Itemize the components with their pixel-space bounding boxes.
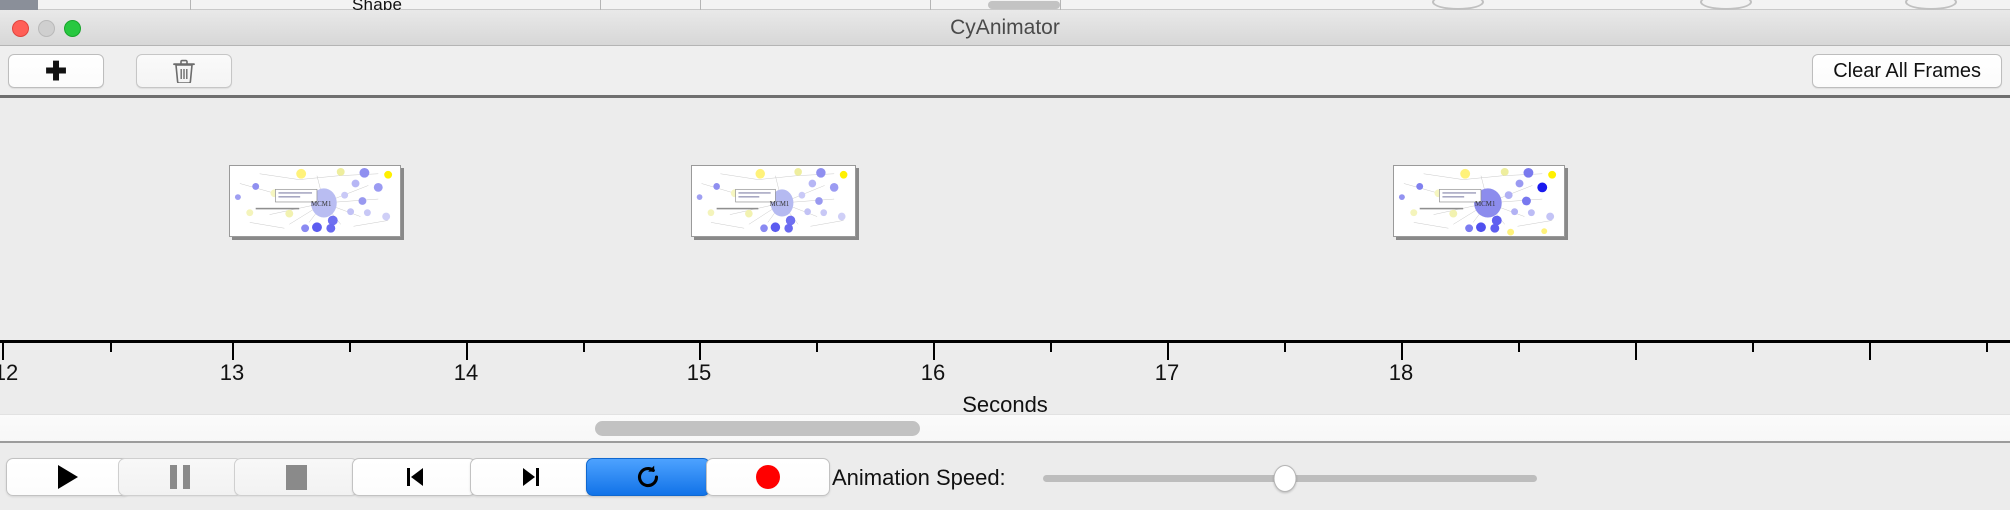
ruler-label: 16 bbox=[921, 360, 945, 386]
ruler-tick-major bbox=[2, 343, 4, 360]
play-button[interactable] bbox=[6, 458, 130, 496]
svg-text:MCM1: MCM1 bbox=[1475, 201, 1496, 208]
loop-icon bbox=[634, 463, 662, 491]
skip-to-end-button[interactable] bbox=[470, 458, 594, 496]
ruler-tick-major bbox=[1635, 343, 1637, 360]
ruler-tick-major bbox=[1401, 343, 1403, 360]
record-icon bbox=[756, 465, 780, 489]
frame-thumbnail[interactable]: MCM1 bbox=[229, 165, 401, 237]
svg-text:MCM1: MCM1 bbox=[311, 201, 332, 208]
ruler-tick-major bbox=[699, 343, 701, 360]
loop-button[interactable] bbox=[586, 458, 710, 496]
ruler-tick-minor bbox=[349, 343, 351, 352]
background-scrollbar-thumb bbox=[988, 1, 1060, 9]
ruler-label: 15 bbox=[687, 360, 711, 386]
ruler-tick-minor bbox=[110, 343, 112, 352]
frame-thumbnail[interactable]: MCM1 bbox=[691, 165, 856, 237]
window-titlebar: CyAnimator bbox=[0, 10, 2010, 46]
frame-thumbnail[interactable]: MCM1 bbox=[1393, 165, 1565, 237]
plus-icon: ✚ bbox=[45, 58, 67, 84]
timeline-ruler-baseline bbox=[0, 340, 2010, 343]
background-divider bbox=[1060, 0, 1061, 10]
cyanimator-window: Shape CyAnimator ✚ Clear All Frames bbox=[0, 0, 2010, 510]
ruler-tick-minor bbox=[583, 343, 585, 352]
skip-to-end-icon bbox=[519, 464, 545, 490]
window-title: CyAnimator bbox=[0, 10, 2010, 46]
background-dark-block bbox=[0, 0, 38, 10]
ruler-label: 18 bbox=[1389, 360, 1413, 386]
pause-icon bbox=[170, 465, 190, 489]
network-preview: MCM1 bbox=[230, 166, 400, 236]
background-arc-icon bbox=[1700, 0, 1752, 10]
skip-to-start-button[interactable] bbox=[352, 458, 476, 496]
animation-speed-slider[interactable] bbox=[1043, 475, 1537, 482]
background-arc-icon bbox=[1905, 0, 1957, 10]
ruler-tick-major bbox=[466, 343, 468, 360]
ruler-tick-minor bbox=[816, 343, 818, 352]
axis-title: Seconds bbox=[0, 392, 2010, 412]
player-controls-bar: Animation Speed: bbox=[0, 443, 2010, 510]
frame-toolbar: ✚ Clear All Frames bbox=[0, 46, 2010, 96]
scrollbar-thumb[interactable] bbox=[595, 421, 920, 436]
ruler-tick-major bbox=[1869, 343, 1871, 360]
ruler-tick-minor bbox=[1050, 343, 1052, 352]
ruler-tick-major bbox=[933, 343, 935, 360]
svg-text:MCM1: MCM1 bbox=[770, 201, 790, 208]
timeline-panel[interactable]: MCM1 bbox=[0, 98, 2010, 412]
record-button[interactable] bbox=[706, 458, 830, 496]
ruler-label: 12 bbox=[0, 360, 18, 386]
ruler-label: 17 bbox=[1155, 360, 1179, 386]
background-divider bbox=[930, 0, 931, 10]
stop-icon bbox=[286, 465, 307, 490]
ruler-tick-minor bbox=[1518, 343, 1520, 352]
ruler-tick-minor bbox=[1986, 343, 1988, 352]
play-icon bbox=[58, 465, 78, 489]
skip-to-start-icon bbox=[401, 464, 427, 490]
clear-all-frames-label: Clear All Frames bbox=[1833, 60, 1981, 83]
ruler-tick-minor bbox=[1284, 343, 1286, 352]
background-divider bbox=[190, 0, 191, 10]
ruler-label: 13 bbox=[220, 360, 244, 386]
network-preview: MCM1 bbox=[1394, 166, 1564, 236]
stop-button[interactable] bbox=[234, 458, 358, 496]
animation-speed-label: Animation Speed: bbox=[832, 465, 1006, 491]
delete-frame-button[interactable] bbox=[136, 54, 232, 88]
add-frame-button[interactable]: ✚ bbox=[8, 54, 104, 88]
pause-button[interactable] bbox=[118, 458, 242, 496]
clear-all-frames-button[interactable]: Clear All Frames bbox=[1812, 54, 2002, 88]
background-app-strip: Shape bbox=[0, 0, 2010, 10]
animation-speed-knob[interactable] bbox=[1274, 465, 1297, 492]
background-arc-icon bbox=[1432, 0, 1484, 10]
ruler-label: 14 bbox=[454, 360, 478, 386]
ruler-tick-minor bbox=[1752, 343, 1754, 352]
network-preview: MCM1 bbox=[692, 166, 855, 236]
background-divider bbox=[700, 0, 701, 10]
trash-icon bbox=[173, 59, 195, 83]
ruler-tick-major bbox=[232, 343, 234, 360]
ruler-tick-major bbox=[1167, 343, 1169, 360]
background-divider bbox=[600, 0, 601, 10]
timeline-scrollbar[interactable] bbox=[0, 414, 2010, 442]
